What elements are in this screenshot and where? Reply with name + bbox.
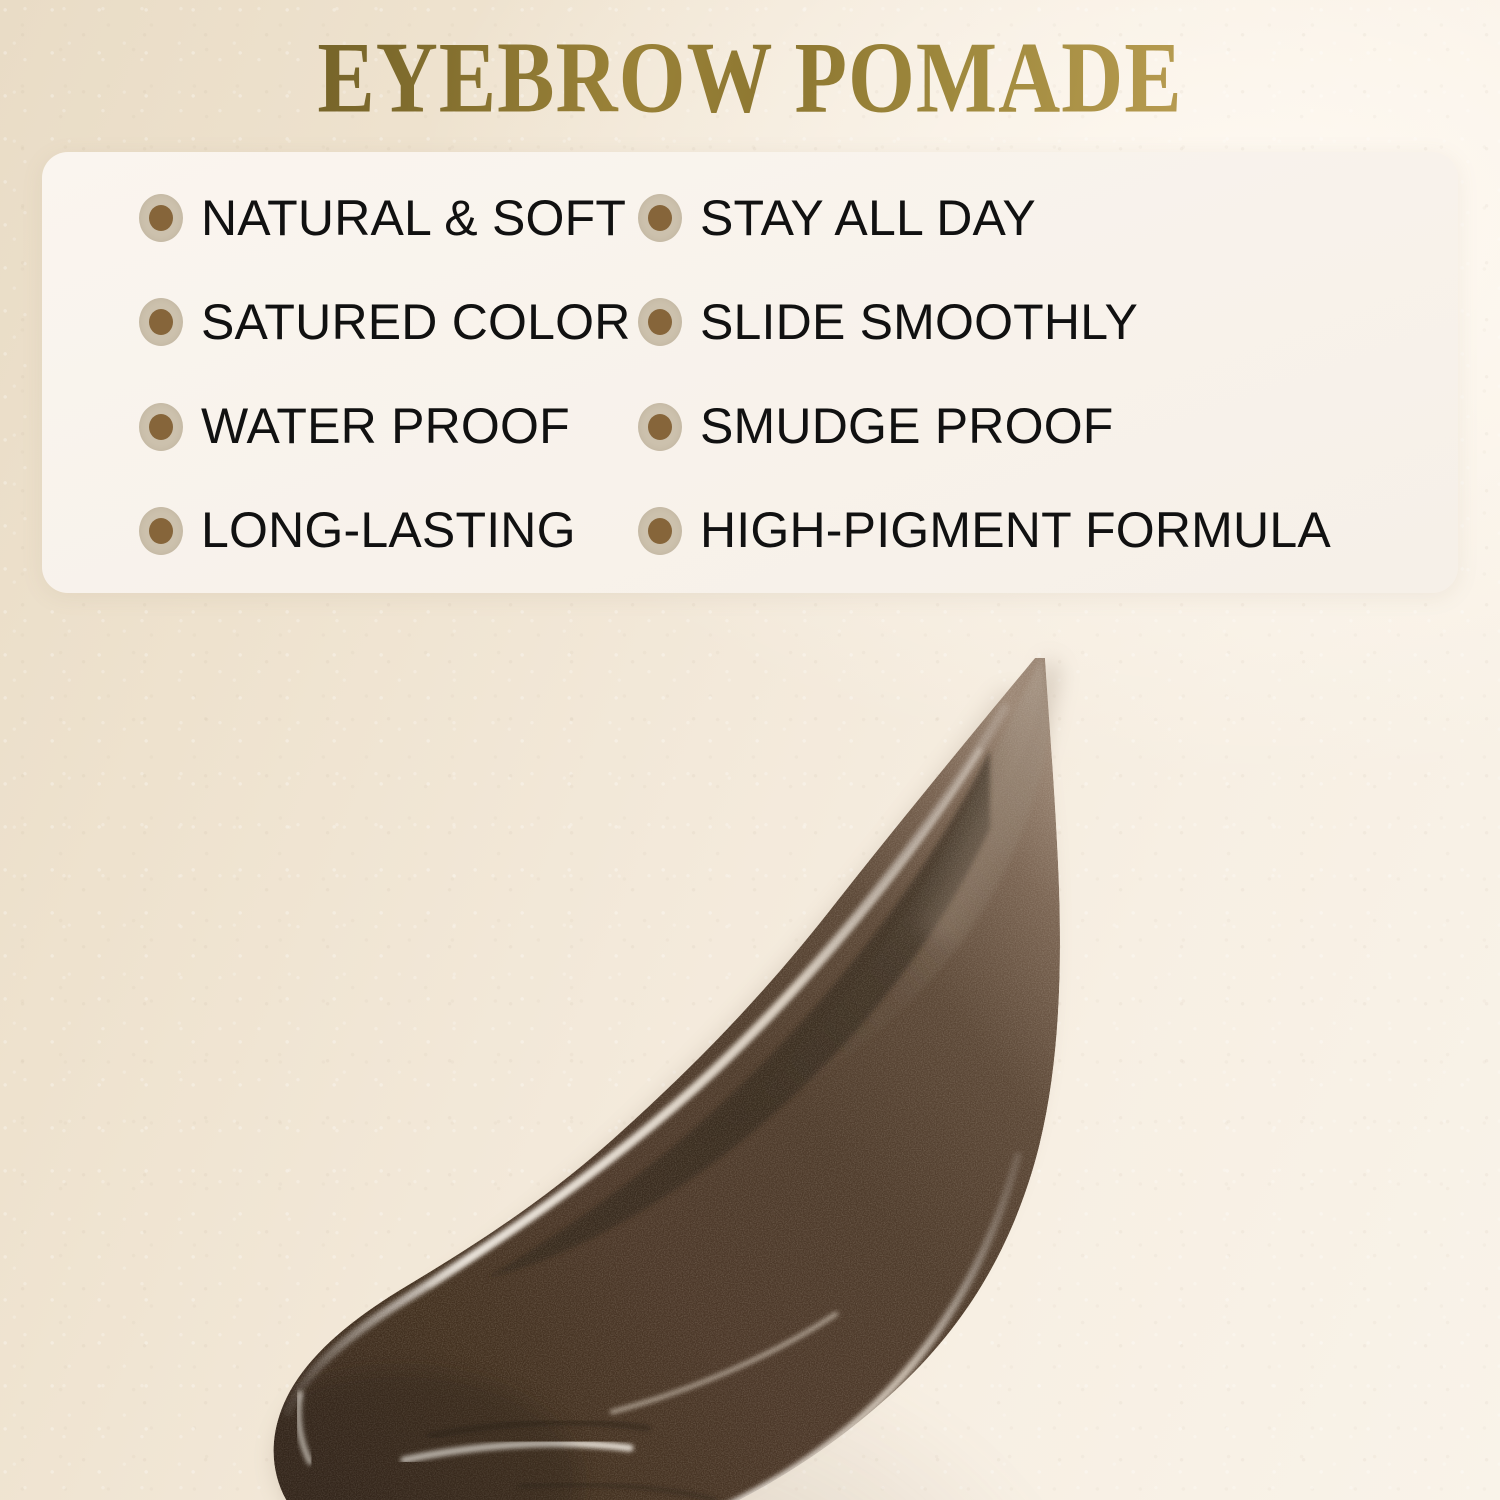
feature-item-water-proof: WATER PROOF <box>42 375 638 479</box>
feature-item-smudge-proof: SMUDGE PROOF <box>638 375 1458 479</box>
feature-list-card: NATURAL & SOFT STAY ALL DAY SATURED COLO… <box>42 152 1458 593</box>
feature-item-stay-all-day: STAY ALL DAY <box>638 166 1458 270</box>
feature-label: SLIDE SMOOTHLY <box>700 297 1138 348</box>
feature-item-satured-color: SATURED COLOR <box>42 270 638 374</box>
product-swatch-area <box>0 600 1500 1500</box>
product-feature-graphic: EYEBROW POMADE NATURAL & SOFT STAY ALL D… <box>0 0 1500 1500</box>
swatch-body-group <box>220 640 1090 1500</box>
feature-label: WATER PROOF <box>201 401 570 452</box>
feature-label: STAY ALL DAY <box>700 193 1036 244</box>
feature-item-long-lasting: LONG-LASTING <box>42 479 638 583</box>
bullet-dot-icon <box>638 298 682 346</box>
bullet-dot-icon <box>139 194 183 242</box>
feature-grid: NATURAL & SOFT STAY ALL DAY SATURED COLO… <box>42 152 1458 593</box>
bullet-dot-icon <box>139 507 183 555</box>
feature-label: LONG-LASTING <box>201 505 576 556</box>
feature-label: HIGH-PIGMENT FORMULA <box>700 505 1331 556</box>
feature-label: SMUDGE PROOF <box>700 401 1114 452</box>
feature-label: NATURAL & SOFT <box>201 193 626 244</box>
bullet-dot-icon <box>638 194 682 242</box>
bullet-dot-icon <box>139 298 183 346</box>
bullet-dot-icon <box>638 507 682 555</box>
feature-item-natural-and-soft: NATURAL & SOFT <box>42 166 638 270</box>
feature-label: SATURED COLOR <box>201 297 631 348</box>
page-title: EYEBROW POMADE <box>0 22 1500 133</box>
bullet-dot-icon <box>638 403 682 451</box>
bullet-dot-icon <box>139 403 183 451</box>
eyebrow-pomade-swatch-image <box>0 600 1500 1500</box>
feature-item-high-pigment-formula: HIGH-PIGMENT FORMULA <box>638 479 1458 583</box>
feature-item-slide-smoothly: SLIDE SMOOTHLY <box>638 270 1458 374</box>
